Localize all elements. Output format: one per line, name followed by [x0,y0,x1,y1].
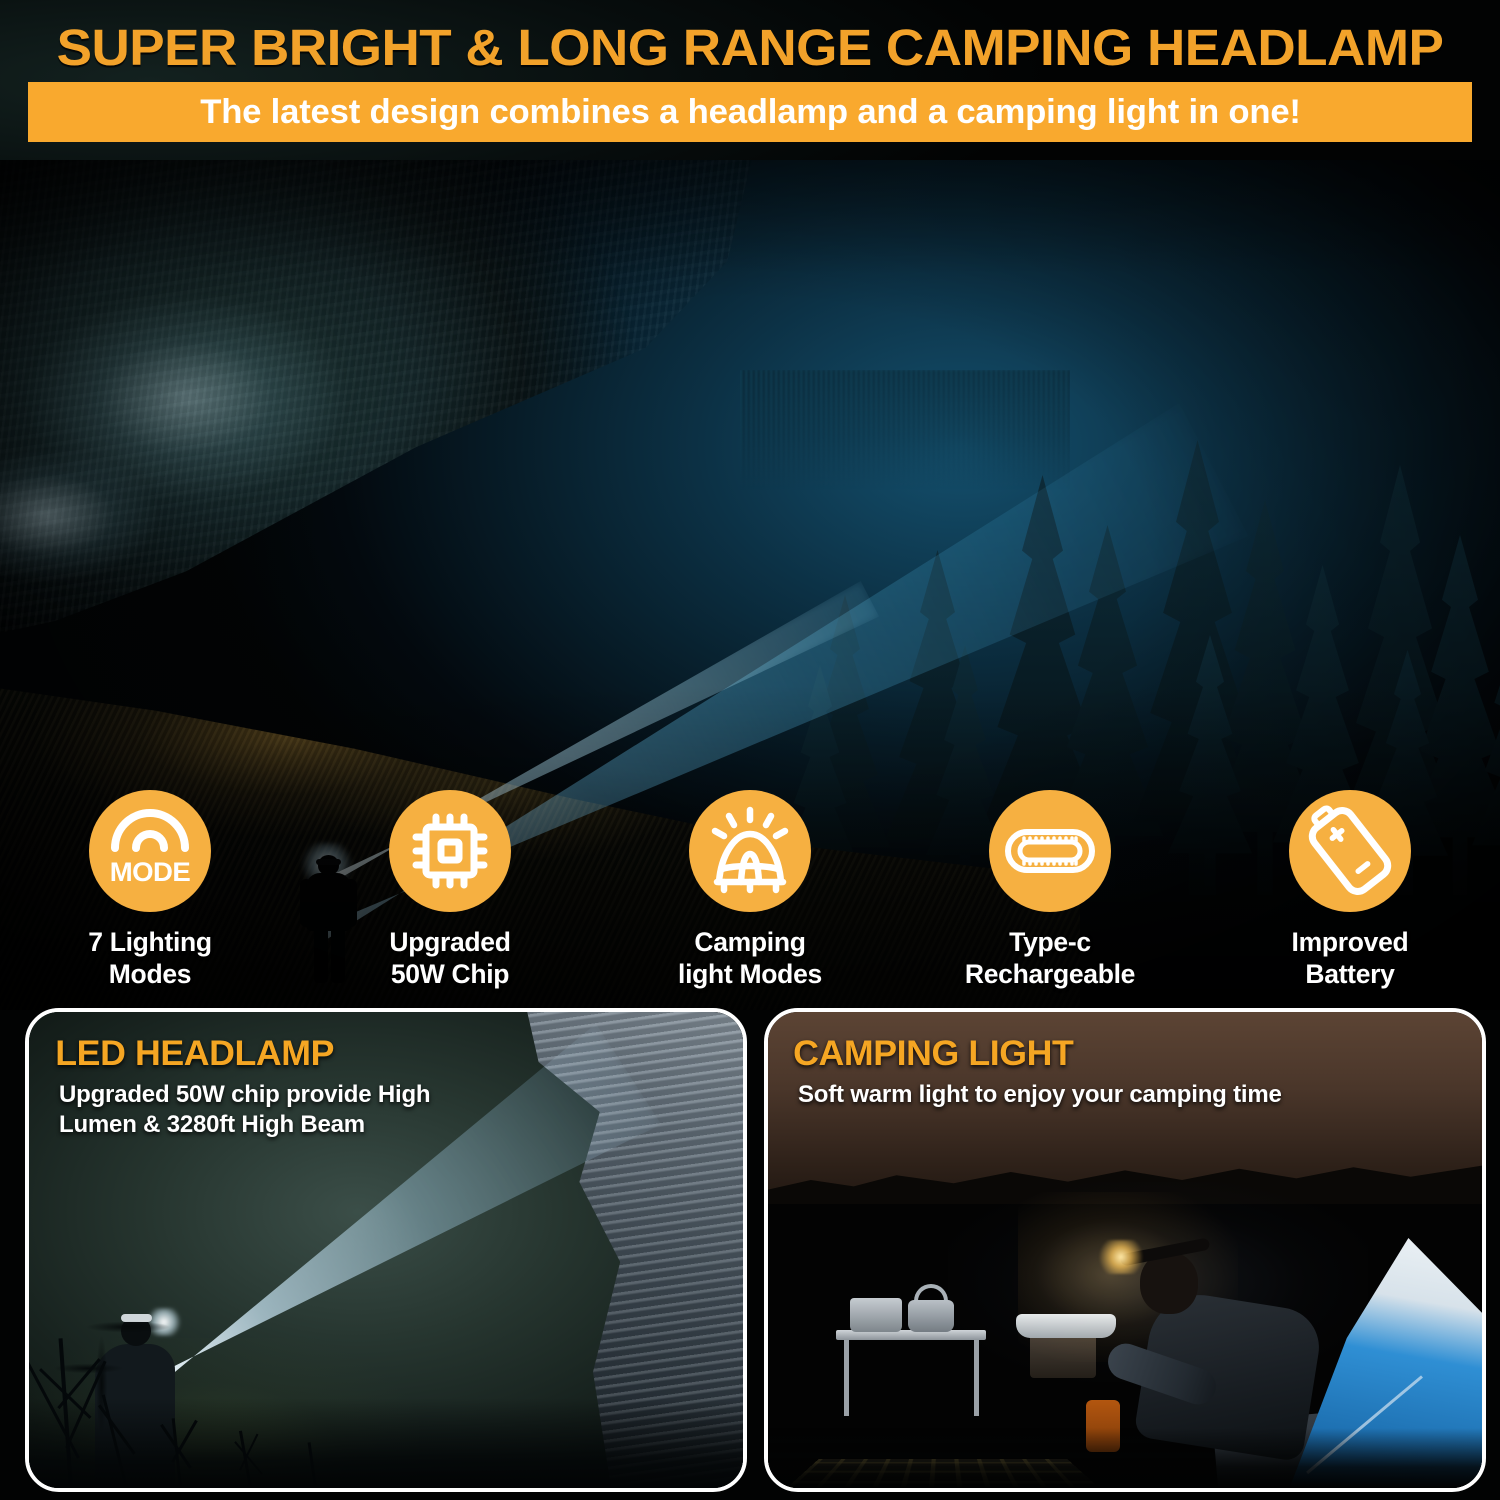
bottom-panels: LED HEADLAMP Upgraded 50W chip provide H… [0,1008,1500,1500]
header-banner: SUPER BRIGHT & LONG RANGE CAMPING HEADLA… [0,0,1500,160]
panel-camping-light[interactable]: CAMPING LIGHT Soft warm light to enjoy y… [764,1008,1486,1492]
feature-row: MODE 7 Lighting Modes Upgraded 50W Chip [0,790,1500,1000]
feature-item-upgraded-chip[interactable]: Upgraded 50W Chip [300,790,600,1000]
battery-icon [1289,790,1411,912]
feature-label: Upgraded 50W Chip [389,926,510,991]
page-title: SUPER BRIGHT & LONG RANGE CAMPING HEADLA… [0,18,1500,77]
tent-light-icon [689,790,811,912]
tent-light-icon-badge [689,790,811,912]
feature-label: Type-c Rechargeable [965,926,1135,991]
usb-type-c-icon-badge [989,790,1111,912]
camp-table-leg [974,1340,979,1416]
headlamp-light [1098,1240,1144,1274]
battery-icon-badge [1289,790,1411,912]
panel-subtitle: Upgraded 50W chip provide High Lumen & 3… [59,1080,430,1140]
panel-title: CAMPING LIGHT [793,1034,1286,1074]
feature-item-improved-battery[interactable]: Improved Battery [1200,790,1500,1000]
feature-item-lighting-modes[interactable]: MODE 7 Lighting Modes [0,790,300,1000]
panel-subtitle: Soft warm light to enjoy your camping ti… [798,1080,1282,1110]
cooking-pot [850,1298,902,1332]
feature-item-type-c-rechargeable[interactable]: Type-c Rechargeable [900,790,1200,1000]
feature-label: Improved Battery [1292,926,1409,991]
chip-icon-badge [389,790,511,912]
mode-icon-badge: MODE [89,790,211,912]
feature-label: 7 Lighting Modes [88,926,212,991]
kettle [908,1300,954,1332]
product-infographic: SUPER BRIGHT & LONG RANGE CAMPING HEADLA… [0,0,1500,1500]
chip-icon [389,790,511,912]
panel-heading-block: LED HEADLAMP Upgraded 50W chip provide H… [59,1034,430,1140]
feature-label: Camping light Modes [678,926,822,991]
panel-bottom-shade [29,1398,743,1488]
camper-head [1140,1252,1198,1314]
usb-type-c-icon [989,790,1111,912]
panel-heading-block: CAMPING LIGHT Soft warm light to enjoy y… [798,1034,1282,1110]
subtitle-bar: The latest design combines a headlamp an… [28,82,1472,142]
feature-item-camping-light-modes[interactable]: Camping light Modes [600,790,900,1000]
panel-led-headlamp[interactable]: LED HEADLAMP Upgraded 50W chip provide H… [25,1008,747,1492]
mode-icon [89,790,211,912]
mode-badge-label: MODE [88,857,212,888]
camp-table-leg [844,1340,849,1416]
panel-title: LED HEADLAMP [55,1034,434,1074]
subtitle-text: The latest design combines a headlamp an… [200,93,1301,132]
panel-bottom-shade [768,1428,1482,1488]
